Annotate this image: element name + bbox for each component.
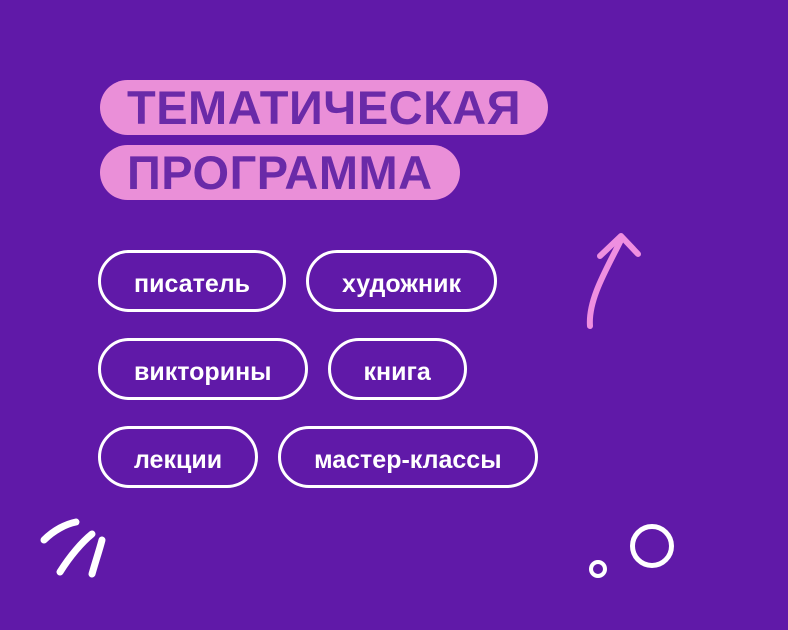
tag-row: лекции мастер-классы (98, 426, 538, 488)
tag-pill-kniga[interactable]: книга (328, 338, 467, 400)
tag-pill-pisatel[interactable]: писатель (98, 250, 286, 312)
title-line-1: ТЕМАТИЧЕСКАЯ (100, 80, 548, 135)
circle-outline-large-icon (630, 524, 674, 568)
poster-canvas: ТЕМАТИЧЕСКАЯ ПРОГРАММА писатель художник… (0, 0, 788, 630)
tag-pill-viktoriny[interactable]: викторины (98, 338, 308, 400)
tag-row: викторины книга (98, 338, 538, 400)
tag-pill-lekcii[interactable]: лекции (98, 426, 258, 488)
title-line-2: ПРОГРАММА (100, 145, 460, 200)
page-title: ТЕМАТИЧЕСКАЯ ПРОГРАММА (100, 80, 548, 200)
tag-pill-master-klassy[interactable]: мастер-классы (278, 426, 537, 488)
circle-outline-small-icon (589, 560, 607, 578)
tag-row: писатель художник (98, 250, 538, 312)
tag-pill-hudozhnik[interactable]: художник (306, 250, 497, 312)
slash-marks-icon (38, 512, 128, 592)
curved-arrow-icon (578, 222, 648, 332)
tag-list: писатель художник викторины книга лекции… (98, 250, 538, 488)
